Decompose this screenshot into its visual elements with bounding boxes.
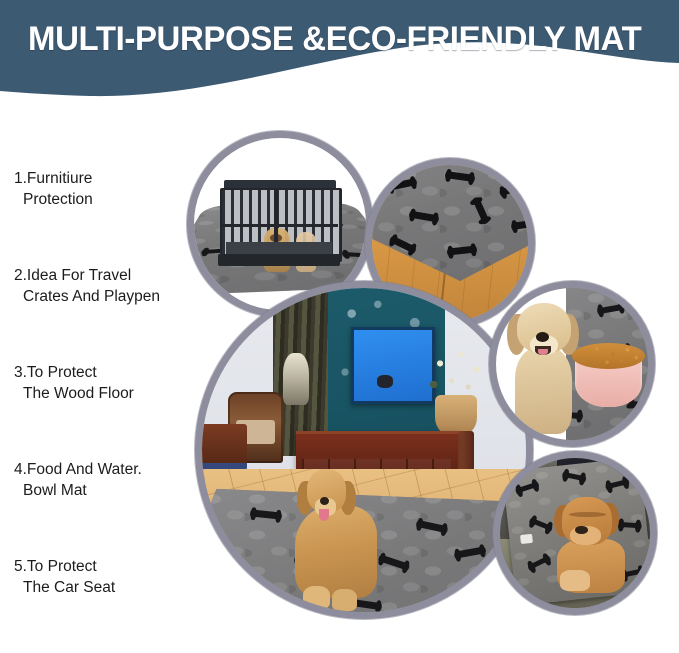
bone-pattern-icon (532, 519, 551, 530)
bone-pattern-icon (456, 547, 483, 558)
dog-paw (332, 589, 357, 610)
food-bowl-scene (496, 288, 648, 440)
bone-pattern-icon (260, 608, 287, 612)
bone-pattern-icon (450, 246, 475, 255)
bone-pattern-icon (530, 557, 548, 569)
bone-pattern-icon (502, 181, 527, 195)
dog-food-kibble (572, 343, 645, 369)
television (351, 327, 435, 404)
dog-tongue (319, 509, 330, 520)
bone-pattern-icon (345, 252, 366, 257)
crate-base (218, 254, 340, 266)
bone-pattern-icon (252, 510, 279, 520)
bone-pattern-icon (565, 472, 584, 481)
dog-crate (220, 180, 338, 266)
brown-puppy (554, 497, 635, 593)
crate-scene (194, 138, 366, 310)
bone-pattern-icon (448, 171, 473, 181)
bone-pattern-icon (418, 520, 445, 532)
golden-retriever-living-room (289, 469, 386, 612)
bone-pattern-icon (433, 602, 458, 612)
tv-shelf-object (377, 375, 393, 388)
bone-pattern-icon (473, 199, 488, 222)
bone-pattern-icon (514, 219, 528, 229)
photo-circle-car-seat (500, 458, 650, 608)
photo-circle-crate (194, 138, 366, 310)
living-room-scene (202, 288, 526, 612)
photo-collage (0, 0, 679, 642)
puppy-paw (560, 570, 589, 591)
dog-body (295, 506, 377, 597)
bone-pattern-icon (412, 211, 437, 222)
bone-pattern-icon (518, 482, 537, 492)
bone-pattern-icon (212, 551, 230, 577)
table-lamp (283, 353, 309, 405)
photo-circle-food-bowl (496, 288, 648, 440)
bone-pattern-icon (608, 480, 627, 489)
photo-circle-living-room (202, 288, 526, 612)
car-seat-scene (500, 458, 650, 608)
dog-paw (303, 586, 330, 609)
dog-body (515, 348, 572, 434)
crate-cross-bar (220, 224, 338, 227)
bone-pattern-icon (390, 179, 415, 191)
mat-anchor-tab (520, 534, 533, 545)
bone-pattern-icon (600, 304, 623, 314)
